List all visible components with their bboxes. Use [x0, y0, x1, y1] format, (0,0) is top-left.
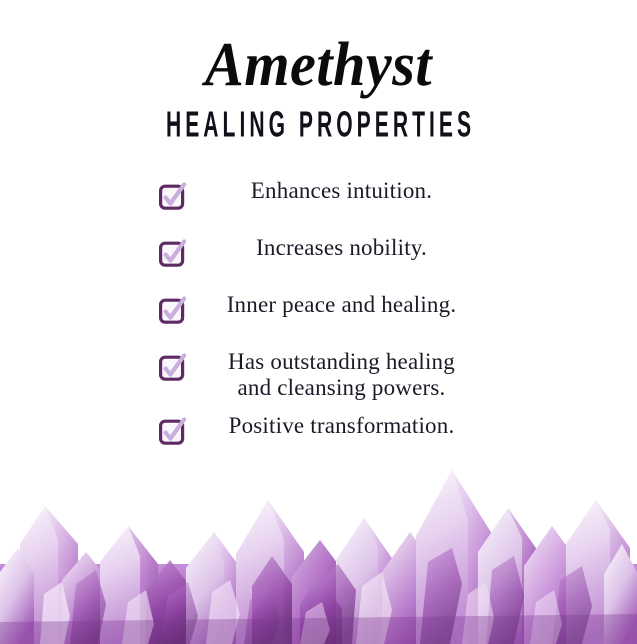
list-item[interactable]: Enhances intuition.	[0, 178, 637, 212]
list-item[interactable]: Inner peace and healing.	[0, 292, 637, 326]
list-item-text: Enhances intuition.	[0, 178, 637, 204]
checked-checkbox-icon[interactable]	[159, 353, 185, 379]
list-item-text: Increases nobility.	[0, 235, 637, 261]
checked-checkbox-icon[interactable]	[159, 239, 185, 265]
list-item[interactable]: Increases nobility.	[0, 235, 637, 269]
checked-checkbox-icon[interactable]	[159, 182, 185, 208]
page-title: Amethyst	[19, 0, 618, 96]
list-item[interactable]: Has outstanding healing and cleansing po…	[0, 349, 637, 401]
list-item-text: Positive transformation.	[0, 413, 637, 439]
poster-header: Amethyst HEALING PROPERTIES	[0, 0, 637, 140]
list-item-text: Inner peace and healing.	[0, 292, 637, 318]
checked-checkbox-icon[interactable]	[159, 296, 185, 322]
page-subtitle: HEALING PROPERTIES	[121, 96, 516, 143]
list-item-text: Has outstanding healing and cleansing po…	[0, 349, 637, 401]
amethyst-healing-properties-poster: Amethyst HEALING PROPERTIES Enhances int…	[0, 0, 637, 644]
list-item[interactable]: Positive transformation.	[0, 413, 637, 447]
amethyst-crystal-cluster-photo	[0, 444, 637, 644]
checked-checkbox-icon[interactable]	[159, 417, 185, 443]
healing-properties-list: Enhances intuition. Increases nobility.	[0, 178, 637, 447]
